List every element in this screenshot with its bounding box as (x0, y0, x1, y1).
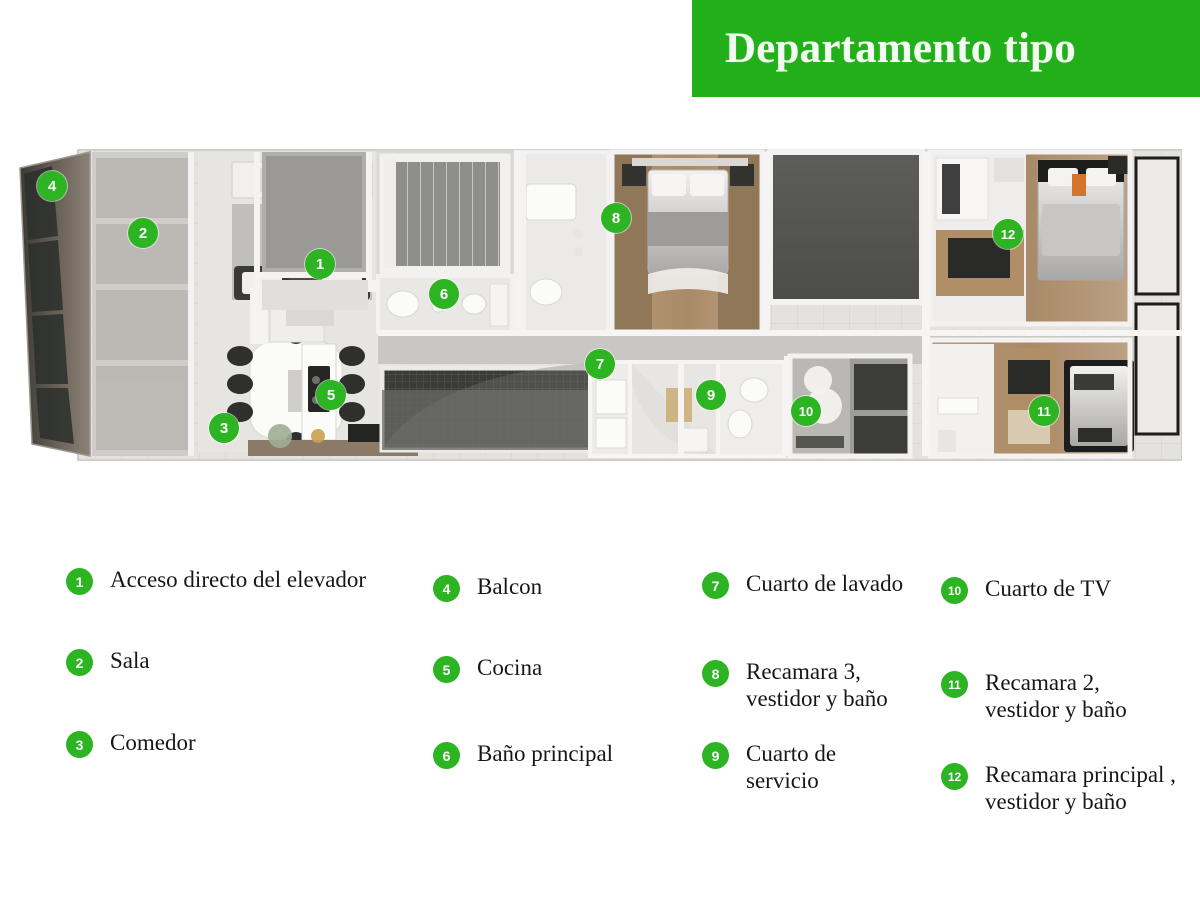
legend-badge-number: 12 (948, 771, 961, 783)
legend-label-9: Cuarto de servicio (746, 740, 836, 794)
legend-badge-number: 1 (76, 575, 84, 589)
plan-marker-label: 2 (139, 226, 147, 241)
legend-badge-12: 12 (941, 763, 968, 790)
legend-badge-8: 8 (702, 660, 729, 687)
plan-marker-6[interactable]: 6 (429, 279, 459, 309)
legend: 1 Acceso directo del elevador 2 Sala 3 C… (0, 548, 1200, 848)
legend-badge-number: 8 (712, 667, 720, 681)
plan-marker-label: 8 (612, 211, 620, 226)
legend-badge-10: 10 (941, 577, 968, 604)
legend-item-11[interactable]: 11 Recamara 2, vestidor y baño (941, 669, 1127, 723)
legend-label-12: Recamara principal , vestidor y baño (985, 761, 1176, 815)
legend-item-2[interactable]: 2 Sala (66, 647, 150, 676)
legend-badge-number: 2 (76, 656, 84, 670)
legend-item-8[interactable]: 8 Recamara 3, vestidor y baño (702, 658, 888, 712)
legend-badge-6: 6 (433, 742, 460, 769)
plan-marker-label: 1 (316, 257, 324, 272)
legend-label-1: Acceso directo del elevador (110, 566, 366, 593)
legend-label-11: Recamara 2, vestidor y baño (985, 669, 1127, 723)
plan-marker-label: 10 (799, 405, 813, 418)
legend-label-2: Sala (110, 647, 150, 674)
central-dark-slab (770, 152, 922, 302)
legend-label-10: Cuarto de TV (985, 575, 1111, 602)
legend-item-1[interactable]: 1 Acceso directo del elevador (66, 566, 366, 595)
legend-badge-number: 7 (712, 579, 720, 593)
legend-badge-11: 11 (941, 671, 968, 698)
legend-item-7[interactable]: 7 Cuarto de lavado (702, 570, 903, 599)
page-title: Departamento tipo (725, 24, 1076, 73)
plan-marker-label: 3 (220, 421, 228, 436)
legend-badge-1: 1 (66, 568, 93, 595)
legend-badge-4: 4 (433, 575, 460, 602)
legend-item-6[interactable]: 6 Baño principal (433, 740, 613, 769)
plan-marker-9[interactable]: 9 (696, 380, 726, 410)
legend-badge-7: 7 (702, 572, 729, 599)
legend-item-3[interactable]: 3 Comedor (66, 729, 196, 758)
plan-marker-7[interactable]: 7 (585, 349, 615, 379)
legend-item-4[interactable]: 4 Balcon (433, 573, 542, 602)
room-entry (254, 152, 372, 310)
legend-badge-9: 9 (702, 742, 729, 769)
title-banner: Departamento tipo (692, 0, 1200, 97)
legend-badge-number: 5 (443, 663, 451, 677)
plan-marker-label: 11 (1037, 405, 1051, 418)
legend-badge-number: 3 (76, 738, 84, 752)
legend-label-3: Comedor (110, 729, 196, 756)
plan-marker-label: 5 (327, 388, 335, 403)
room-master (930, 152, 1130, 324)
plan-marker-3[interactable]: 3 (209, 413, 239, 443)
room-bedroom-3 (612, 152, 762, 332)
floorplan-svg (18, 144, 1182, 464)
room-bedroom-2 (930, 340, 1134, 456)
legend-badge-number: 10 (948, 585, 961, 597)
legend-badge-number: 11 (948, 679, 961, 691)
legend-badge-number: 9 (712, 749, 720, 763)
legend-item-10[interactable]: 10 Cuarto de TV (941, 575, 1111, 604)
legend-badge-number: 6 (443, 749, 451, 763)
legend-label-5: Cocina (477, 654, 542, 681)
plan-marker-5[interactable]: 5 (316, 380, 346, 410)
plan-marker-label: 12 (1001, 228, 1015, 241)
legend-badge-5: 5 (433, 656, 460, 683)
bath-service (718, 362, 784, 456)
legend-label-6: Baño principal (477, 740, 613, 767)
plan-marker-2[interactable]: 2 (128, 218, 158, 248)
legend-label-8: Recamara 3, vestidor y baño (746, 658, 888, 712)
plan-marker-10[interactable]: 10 (791, 396, 821, 426)
legend-item-5[interactable]: 5 Cocina (433, 654, 542, 683)
plan-marker-11[interactable]: 11 (1029, 396, 1059, 426)
legend-label-4: Balcon (477, 573, 542, 600)
legend-item-12[interactable]: 12 Recamara principal , vestidor y baño (941, 761, 1176, 815)
plan-marker-12[interactable]: 12 (993, 219, 1023, 249)
plan-marker-1[interactable]: 1 (305, 249, 335, 279)
legend-label-7: Cuarto de lavado (746, 570, 903, 597)
floorplan-image: 1 2 3 4 5 6 7 8 9 10 11 12 (18, 144, 1182, 464)
plan-marker-label: 4 (48, 179, 56, 194)
plan-marker-label: 7 (596, 357, 604, 372)
plan-marker-4[interactable]: 4 (37, 171, 67, 201)
legend-badge-number: 4 (443, 582, 451, 596)
legend-badge-2: 2 (66, 649, 93, 676)
legend-badge-3: 3 (66, 731, 93, 758)
plan-marker-8[interactable]: 8 (601, 203, 631, 233)
legend-item-9[interactable]: 9 Cuarto de servicio (702, 740, 836, 794)
plan-marker-label: 6 (440, 287, 448, 302)
bath-secondary (516, 152, 608, 332)
plan-marker-label: 9 (707, 388, 715, 403)
stairwell (378, 152, 512, 276)
